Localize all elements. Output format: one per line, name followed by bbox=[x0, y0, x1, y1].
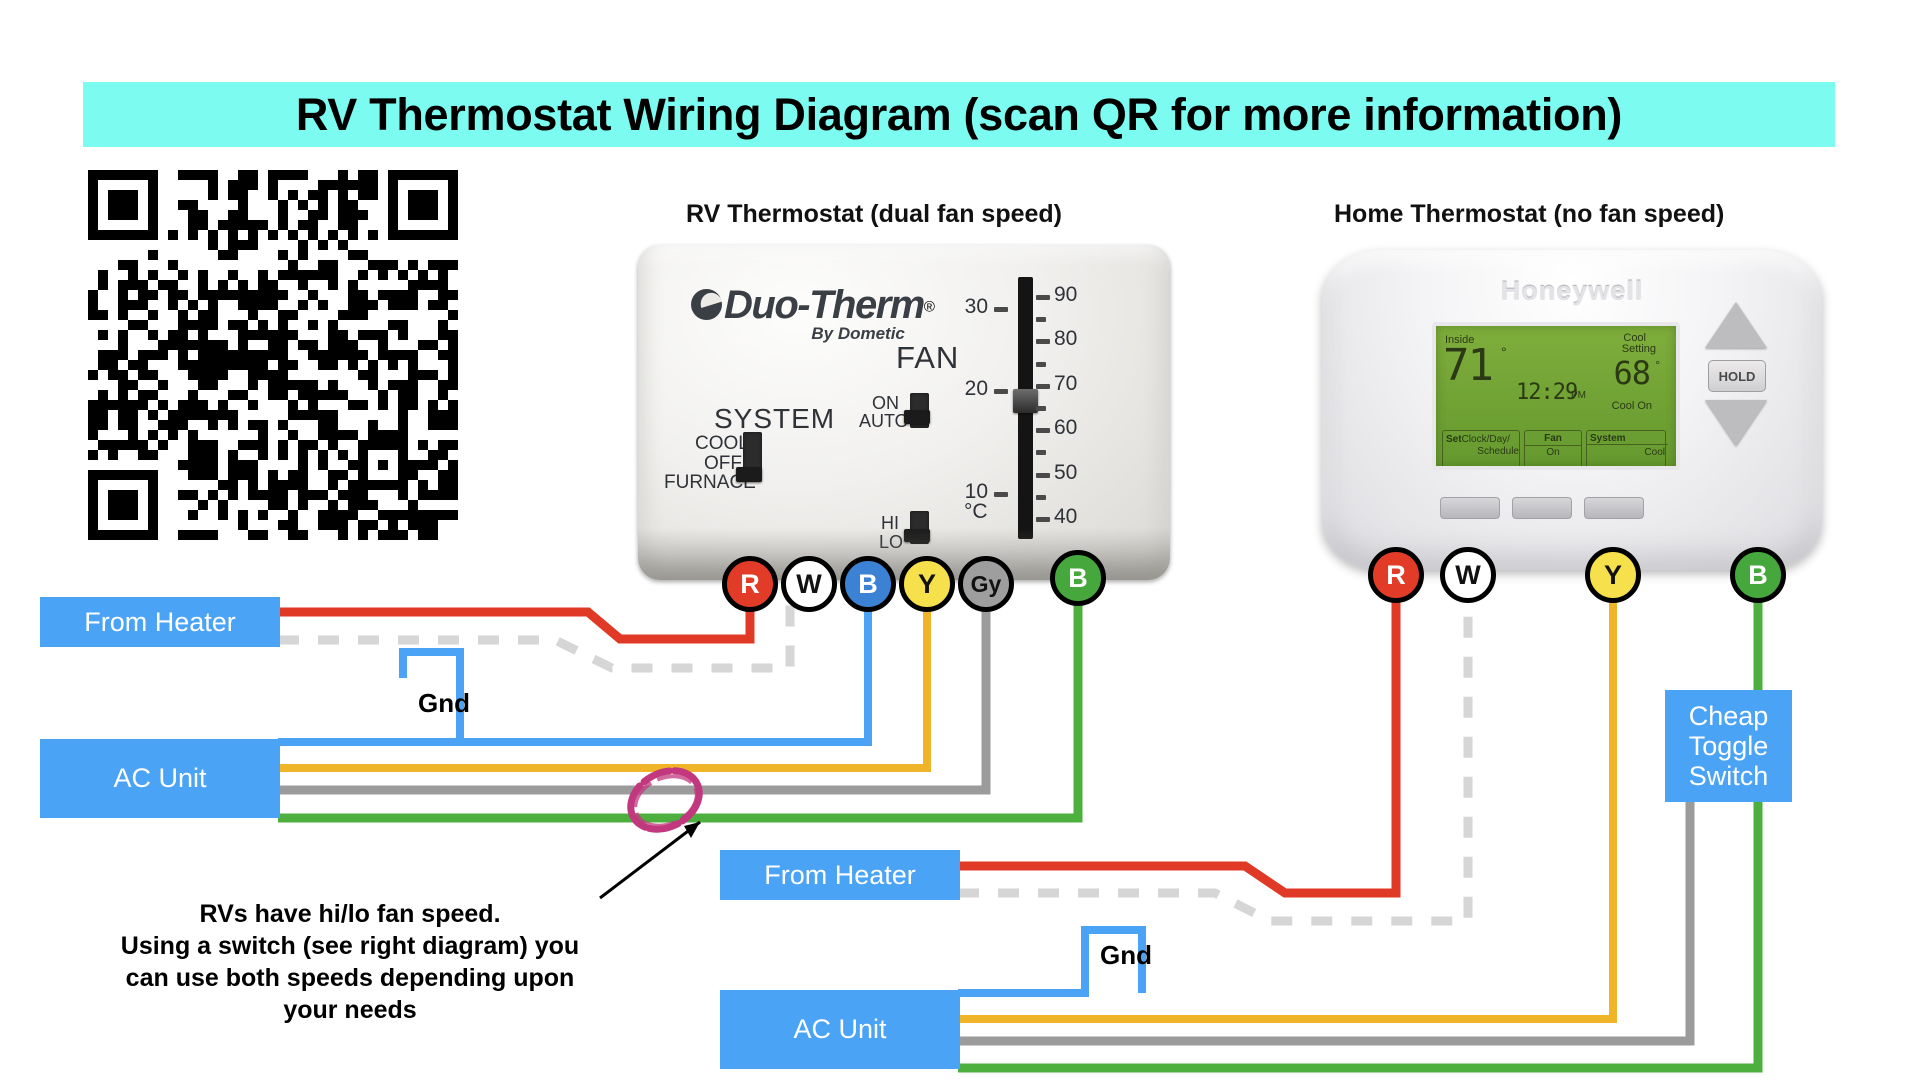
home-terminal-w[interactable]: W bbox=[1440, 547, 1496, 603]
rv-terminal-b-green[interactable]: B bbox=[1050, 550, 1106, 606]
home-terminal-b-green[interactable]: B bbox=[1730, 547, 1786, 603]
annotation-layer bbox=[0, 0, 1920, 1080]
rv-terminal-w[interactable]: W bbox=[781, 556, 837, 612]
rv-terminal-gy[interactable]: Gy bbox=[958, 556, 1014, 612]
home-terminal-r[interactable]: R bbox=[1368, 547, 1424, 603]
rv-terminal-r[interactable]: R bbox=[722, 556, 778, 612]
pointer-arrow-line bbox=[600, 822, 700, 898]
diagram-canvas: RV Thermostat Wiring Diagram (scan QR fo… bbox=[0, 0, 1920, 1080]
rv-terminal-y[interactable]: Y bbox=[899, 556, 955, 612]
pointer-arrow-head-icon bbox=[684, 822, 700, 838]
home-terminal-y[interactable]: Y bbox=[1585, 547, 1641, 603]
rv-terminal-b-blue[interactable]: B bbox=[840, 556, 896, 612]
